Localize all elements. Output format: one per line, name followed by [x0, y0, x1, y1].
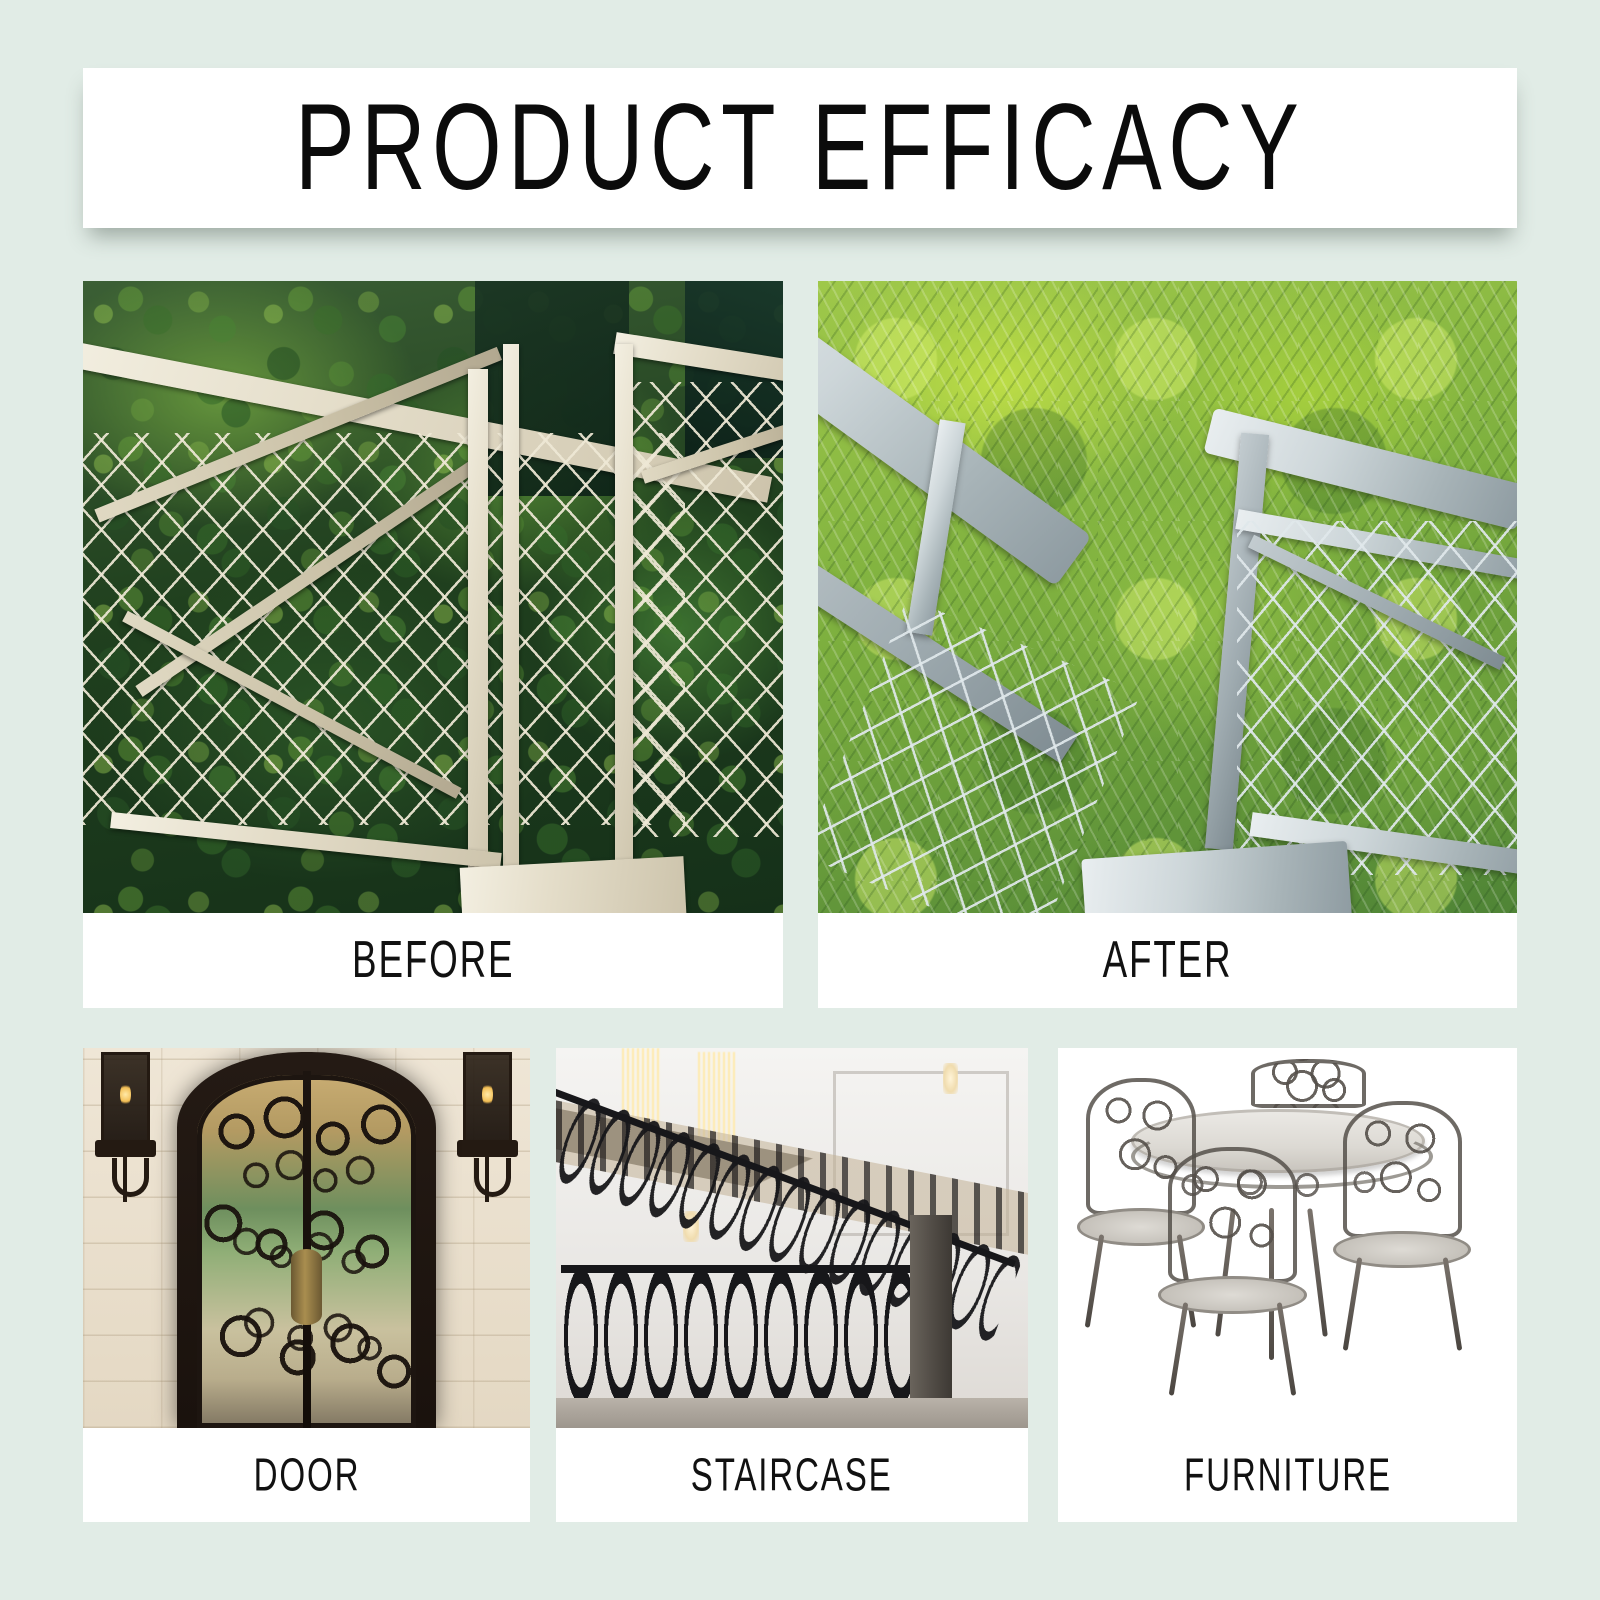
furniture-caption: FURNITURE [1058, 1428, 1517, 1522]
lantern-scroll [112, 1158, 150, 1196]
staircase-label: STAIRCASE [691, 1448, 893, 1503]
chair-leg [1342, 1257, 1362, 1351]
lantern-cap [95, 1140, 156, 1157]
chair-seat [1333, 1231, 1471, 1269]
lantern-left [101, 1052, 150, 1204]
handrail-lower [561, 1265, 910, 1273]
staircase-scene [556, 1048, 1028, 1428]
iron-furniture-scene [1058, 1048, 1517, 1428]
after-photo [818, 281, 1517, 913]
lantern-flame [120, 1083, 130, 1106]
lantern-body [101, 1052, 150, 1146]
page-title: PRODUCT EFFICACY [295, 87, 1305, 210]
floor [556, 1398, 1028, 1428]
after-card[interactable]: AFTER [818, 281, 1517, 1008]
rail-mesh-right [615, 382, 783, 837]
door-photo [83, 1048, 530, 1428]
lantern-body [463, 1052, 512, 1146]
railing-coated-scene [818, 281, 1517, 913]
table-leg [1307, 1208, 1328, 1337]
chair-seat [1158, 1276, 1307, 1314]
before-label: BEFORE [352, 931, 514, 990]
rail-post-right [615, 344, 633, 900]
chair-backrest [1168, 1147, 1297, 1284]
staircase-caption: STAIRCASE [556, 1428, 1028, 1522]
furniture-label: FURNITURE [1184, 1448, 1392, 1503]
iron-door-scene [83, 1048, 530, 1428]
furniture-photo [1058, 1048, 1517, 1428]
after-caption: AFTER [818, 913, 1517, 1008]
door-card[interactable]: DOOR [83, 1048, 530, 1522]
title-banner: PRODUCT EFFICACY [83, 68, 1517, 228]
staircase-card[interactable]: STAIRCASE [556, 1048, 1028, 1522]
rail-post-center [468, 369, 488, 900]
railing-weathered-scene [83, 281, 783, 913]
lantern-scroll [474, 1158, 512, 1196]
lantern-cap [457, 1140, 518, 1157]
chair-right [1343, 1101, 1462, 1337]
after-label: AFTER [1103, 931, 1233, 990]
wall-sconce-right [943, 1063, 958, 1093]
chair-front [1168, 1147, 1297, 1383]
before-photo [83, 281, 783, 913]
door-handle [291, 1249, 322, 1325]
before-caption: BEFORE [83, 913, 783, 1008]
door-caption: DOOR [83, 1428, 530, 1522]
lantern-flame [482, 1083, 492, 1106]
before-card[interactable]: BEFORE [83, 281, 783, 1008]
furniture-card[interactable]: FURNITURE [1058, 1048, 1517, 1522]
door-label: DOOR [253, 1448, 360, 1503]
lantern-right [463, 1052, 512, 1204]
poster-canvas: PRODUCT EFFICACY [0, 0, 1600, 1600]
newel-post [910, 1215, 952, 1420]
chair-leg [1442, 1257, 1462, 1351]
staircase-photo [556, 1048, 1028, 1428]
chair-leg [1277, 1302, 1297, 1396]
chair-leg [1169, 1302, 1189, 1396]
chair-backrest [1343, 1101, 1462, 1238]
balustrade-ovals-lower [561, 1265, 910, 1402]
rail-post-center-inner [503, 344, 519, 913]
chair-leg [1085, 1234, 1105, 1328]
